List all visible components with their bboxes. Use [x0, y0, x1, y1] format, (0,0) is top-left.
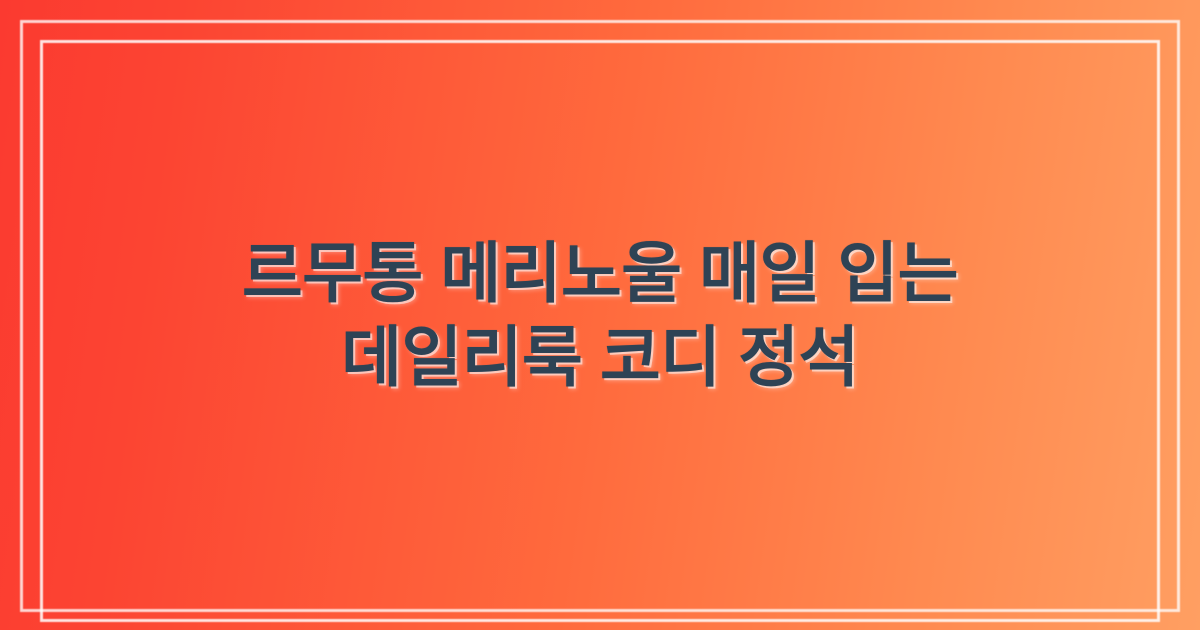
banner-title: 르무통 메리노울 매일 입는 데일리룩 코디 정석: [240, 231, 960, 400]
title-area: 르무통 메리노울 매일 입는 데일리룩 코디 정석: [0, 0, 1200, 630]
banner-card: 르무통 메리노울 매일 입는 데일리룩 코디 정석: [0, 0, 1200, 630]
